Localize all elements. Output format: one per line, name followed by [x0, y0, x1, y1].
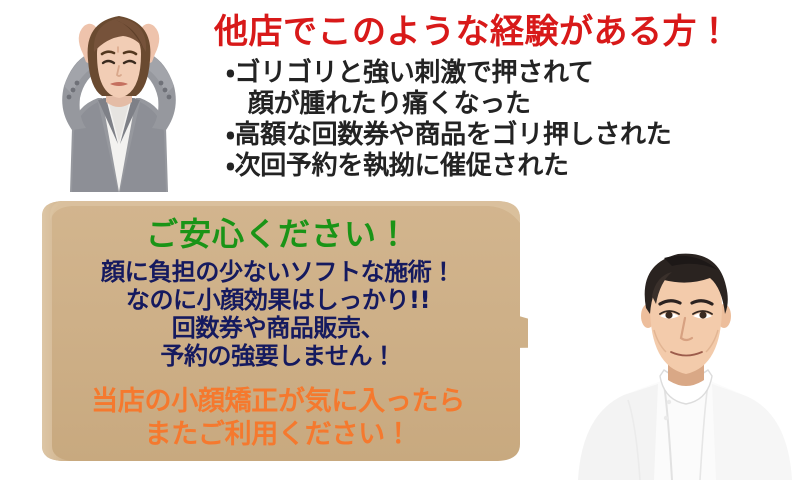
speech-bubble-content: ご安心ください！ 顔に負担の少ないソフトな施術！ なのに小顔効果はしっかり!! …	[38, 208, 518, 451]
worried-woman-photo	[28, 2, 210, 192]
list-item: ・高額な回数券や商品をゴリ押しされた	[226, 120, 796, 151]
practitioner-photo	[568, 234, 800, 480]
speech-bubble-title: ご安心ください！	[38, 214, 518, 254]
page-title: 他店でこのような経験がある方！	[214, 12, 784, 52]
list-item: 顔に負担の少ないソフトな施術！	[38, 258, 518, 286]
list-item: なのに小顔効果はしっかり!!	[38, 286, 518, 314]
list-item: ・ゴリゴリと強い刺激で押されて 顔が腫れたり痛くなった	[226, 58, 796, 120]
list-item: 回数券や商品販売、	[38, 314, 518, 342]
list-item: ・次回予約を執拗に催促された	[226, 151, 796, 182]
complaint-list: ・ゴリゴリと強い刺激で押されて 顔が腫れたり痛くなった ・高額な回数券や商品をゴ…	[226, 58, 796, 182]
cta-line: またご利用ください！	[38, 418, 518, 451]
reassurance-speech-bubble: ご安心ください！ 顔に負担の少ないソフトな施術！ なのに小顔効果はしっかり!! …	[28, 196, 528, 466]
call-to-action: 当店の小顔矯正が気に入ったら またご利用ください！	[38, 385, 518, 451]
speech-bubble-body: 顔に負担の少ないソフトな施術！ なのに小顔効果はしっかり!! 回数券や商品販売、…	[38, 258, 518, 370]
banner-canvas: 他店でこのような経験がある方！ ・ゴリゴリと強い刺激で押されて 顔が腫れたり痛く…	[0, 0, 800, 480]
list-item: 予約の強要しません！	[38, 342, 518, 370]
cta-line: 当店の小顔矯正が気に入ったら	[38, 385, 518, 418]
